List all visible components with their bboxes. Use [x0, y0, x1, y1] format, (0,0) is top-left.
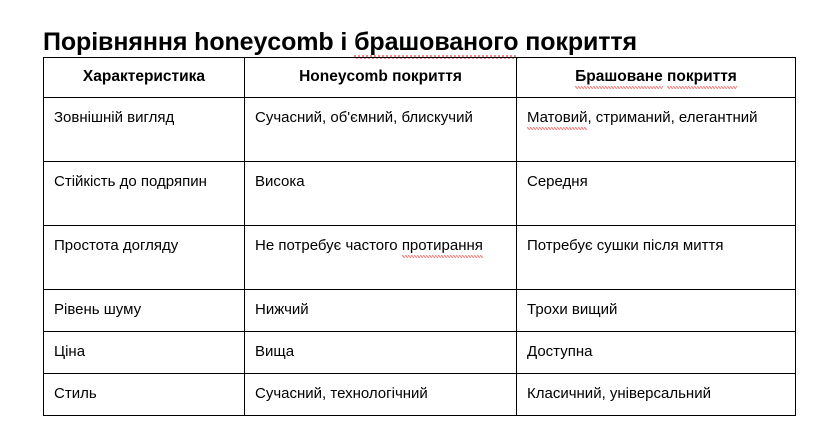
page-title-text-after: покриття: [518, 28, 637, 56]
column-header-brushed: Брашоване покриття: [517, 58, 796, 98]
table-row: Стійкість до подряпин Висока Середня: [44, 162, 796, 226]
table-body: Зовнішній вигляд Сучасний, об'ємний, бли…: [44, 98, 796, 416]
page-title-misspelled-word: брашованого: [354, 27, 518, 57]
cell-brushed-rest: , стриманий, елегантний: [587, 109, 757, 126]
cell-brushed: Класичний, універсальний: [517, 374, 796, 416]
cell-feature: Стиль: [44, 374, 245, 416]
table-row: Зовнішній вигляд Сучасний, об'ємний, бли…: [44, 98, 796, 162]
cell-feature: Рівень шуму: [44, 290, 245, 332]
cell-honeycomb: Не потребує частого протирання: [245, 226, 517, 290]
cell-brushed: Потребує сушки після миття: [517, 226, 796, 290]
cell-brushed-misspelled-word: Матовий: [527, 107, 587, 129]
column-header-feature: Характеристика: [44, 58, 245, 98]
column-header-brushed-word1: Брашоване: [575, 66, 663, 88]
table-row: Стиль Сучасний, технологічний Класичний,…: [44, 374, 796, 416]
table-row: Ціна Вища Доступна: [44, 332, 796, 374]
cell-feature: Ціна: [44, 332, 245, 374]
cell-honeycomb-misspelled-word: протирання: [402, 235, 483, 257]
cell-feature: Стійкість до подряпин: [44, 162, 245, 226]
cell-honeycomb: Сучасний, об'ємний, блискучий: [245, 98, 517, 162]
page-title-text-before: Порівняння honeycomb і: [43, 28, 354, 56]
cell-brushed: Трохи вищий: [517, 290, 796, 332]
cell-feature: Зовнішній вигляд: [44, 98, 245, 162]
cell-honeycomb: Вища: [245, 332, 517, 374]
page-title: Порівняння honeycomb і брашованого покри…: [43, 27, 637, 57]
table-header: Характеристика Honeycomb покриття Брашов…: [44, 58, 796, 98]
cell-brushed: Матовий, стриманий, елегантний: [517, 98, 796, 162]
table-row: Простота догляду Не потребує частого про…: [44, 226, 796, 290]
table-row: Рівень шуму Нижчий Трохи вищий: [44, 290, 796, 332]
column-header-brushed-word2: покриття: [667, 66, 737, 88]
cell-feature: Простота догляду: [44, 226, 245, 290]
cell-honeycomb: Сучасний, технологічний: [245, 374, 517, 416]
cell-honeycomb: Нижчий: [245, 290, 517, 332]
column-header-honeycomb: Honeycomb покриття: [245, 58, 517, 98]
comparison-table: Характеристика Honeycomb покриття Брашов…: [43, 57, 796, 416]
cell-honeycomb: Висока: [245, 162, 517, 226]
cell-brushed: Доступна: [517, 332, 796, 374]
cell-honeycomb-text: Не потребує частого: [255, 237, 402, 254]
table-header-row: Характеристика Honeycomb покриття Брашов…: [44, 58, 796, 98]
cell-brushed: Середня: [517, 162, 796, 226]
